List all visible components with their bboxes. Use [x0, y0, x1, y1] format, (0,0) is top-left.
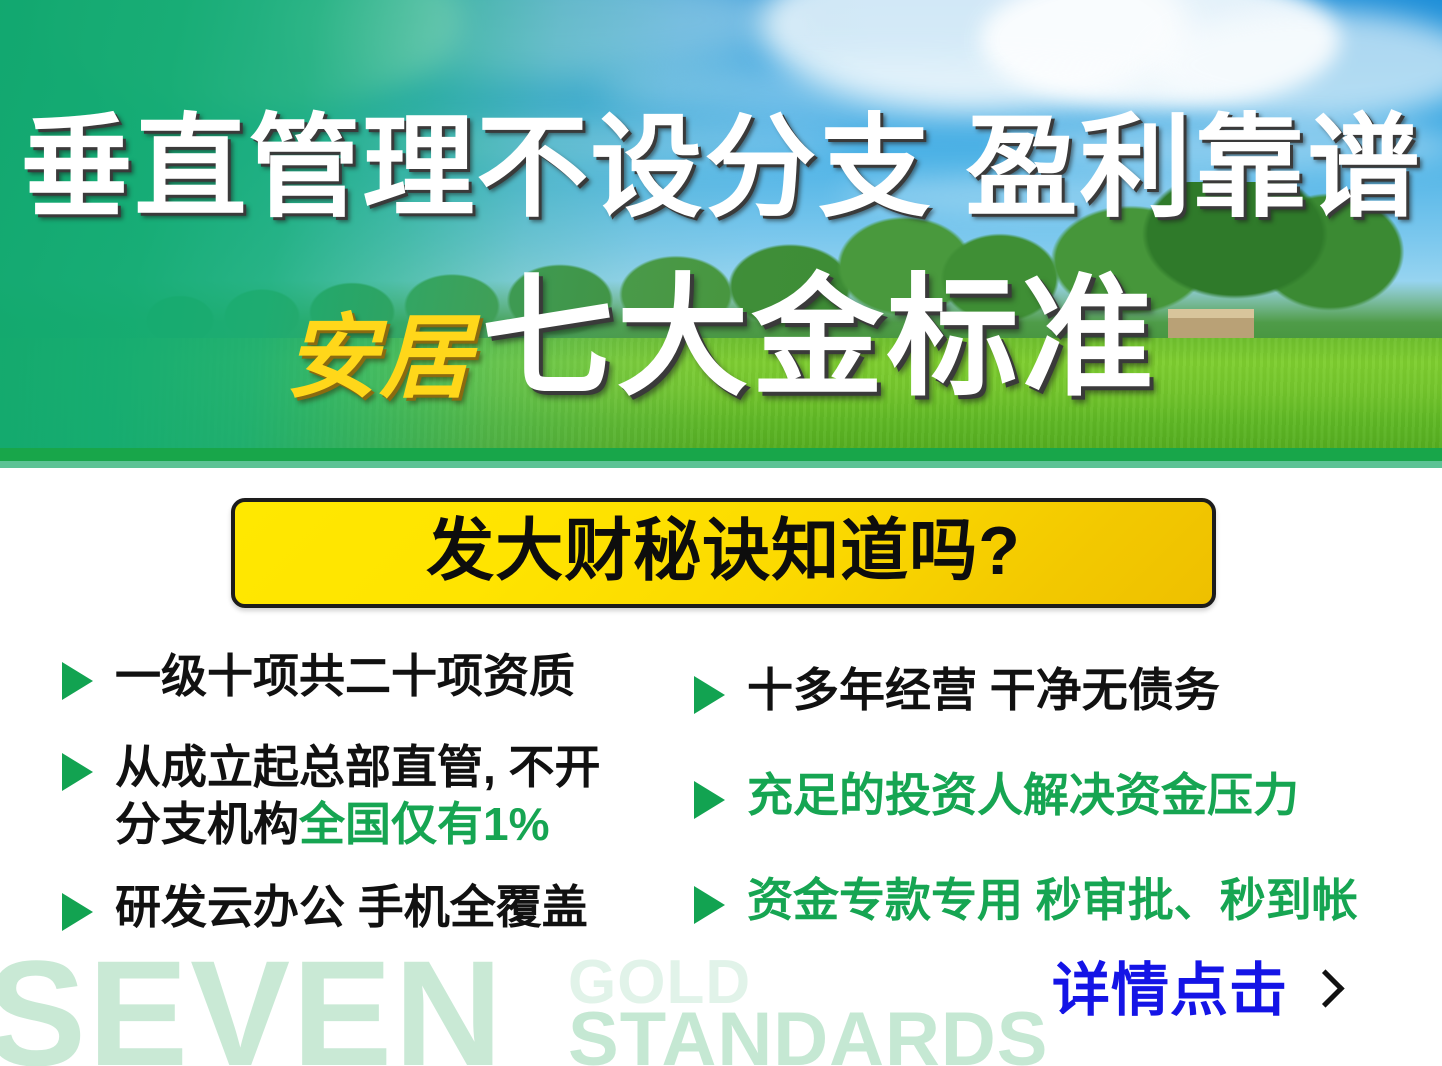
feature-item-label: 从成立起总部直管, 不开 分支机构全国仅有1%: [115, 739, 601, 853]
triangle-bullet-icon: [694, 781, 725, 819]
feature-line-1: 从成立起总部直管, 不开: [115, 741, 601, 793]
triangle-bullet-icon: [62, 662, 93, 700]
hero-divider-bar-light: [0, 461, 1442, 468]
feature-item-label: 充足的投资人解决资金压力: [747, 767, 1299, 824]
details-cta-link[interactable]: 详情点击: [1052, 962, 1336, 1020]
feature-list: 一级十项共二十项资质 从成立起总部直管, 不开 分支机构全国仅有1% 研发云办公…: [0, 648, 1442, 978]
details-cta-label: 详情点击: [1052, 962, 1288, 1020]
feature-line-2-highlight: 全国仅有1%: [299, 798, 549, 850]
feature-item-dedicated-funds: 资金专款专用 秒审批、秒到帐: [694, 872, 1394, 929]
promo-banner: 垂直管理不设分支 盈利靠谱 安居七大金标准 发大财秘诀知道吗? SEVEN GO…: [0, 0, 1442, 1066]
triangle-bullet-icon: [694, 886, 725, 924]
feature-item-label: 一级十项共二十项资质: [115, 648, 575, 705]
feature-item-cloud-office: 研发云办公 手机全覆盖: [62, 879, 682, 936]
feature-item-investors: 充足的投资人解决资金压力: [694, 767, 1394, 824]
feature-item-label: 研发云办公 手机全覆盖: [115, 879, 588, 936]
hero-brand-word: 安居: [285, 307, 473, 409]
hero-headline: 垂直管理不设分支 盈利靠谱: [0, 112, 1442, 224]
feature-item-direct-management: 从成立起总部直管, 不开 分支机构全国仅有1%: [62, 739, 682, 853]
hero-subline-main: 七大金标准: [482, 264, 1157, 411]
triangle-bullet-icon: [62, 753, 93, 791]
feature-column-left: 一级十项共二十项资质 从成立起总部直管, 不开 分支机构全国仅有1% 研发云办公…: [62, 648, 682, 970]
feature-column-right: 十多年经营 干净无债务 充足的投资人解决资金压力 资金专款专用 秒审批、秒到帐: [694, 662, 1394, 963]
feature-item-label: 资金专款专用 秒审批、秒到帐: [747, 872, 1358, 929]
hero-image: 垂直管理不设分支 盈利靠谱 安居七大金标准: [0, 0, 1442, 468]
feature-item-label: 十多年经营 干净无债务: [747, 662, 1220, 719]
triangle-bullet-icon: [694, 676, 725, 714]
hero-divider-bar-dark: [0, 448, 1442, 461]
triangle-bullet-icon: [62, 893, 93, 931]
feature-item-experience: 十多年经营 干净无债务: [694, 662, 1394, 719]
feature-item-qualifications: 一级十项共二十项资质: [62, 648, 682, 705]
callout-banner[interactable]: 发大财秘诀知道吗?: [231, 498, 1216, 608]
chevron-right-icon: [1310, 969, 1336, 1013]
feature-line-2-prefix: 分支机构: [115, 798, 299, 850]
watermark-standards: STANDARDS: [568, 1002, 1048, 1066]
hero-subline: 安居七大金标准: [0, 272, 1442, 404]
callout-banner-text: 发大财秘诀知道吗?: [426, 517, 1021, 589]
